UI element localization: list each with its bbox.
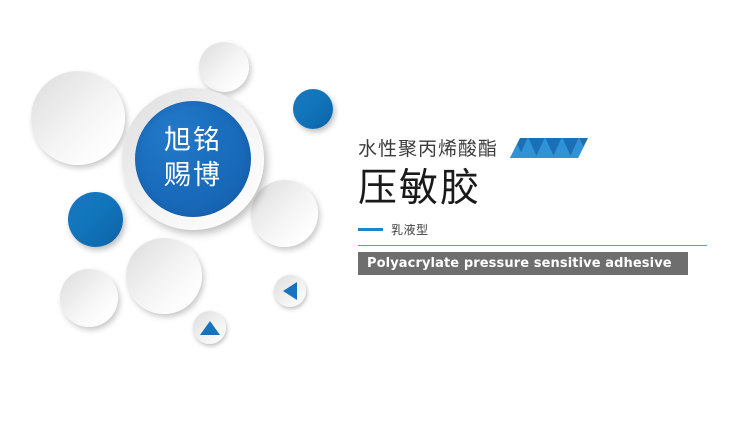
subtitle-row: 水性聚丙烯酸酯 [358, 132, 718, 162]
logo-text-line-1: 旭铭 [164, 124, 222, 159]
gray-circle-large-left [31, 71, 125, 165]
triangle-up-icon [200, 321, 220, 335]
blue-circle-top-right [293, 89, 333, 129]
marker-triangle-up [193, 311, 226, 344]
tag-dash-icon [358, 228, 383, 231]
subtitle-chinese: 水性聚丙烯酸酯 [358, 134, 498, 161]
blue-circle-mid-left [68, 192, 123, 247]
tag-chinese: 乳液型 [391, 221, 429, 238]
slide-canvas: 旭铭 赐博 水性聚丙烯酸酯 [0, 0, 750, 422]
zigzag-parallelogram-icon [510, 137, 588, 159]
gray-circle-bottom-left [60, 269, 118, 327]
gray-circle-bottom-mid [126, 238, 202, 314]
tag-row: 乳液型 [358, 222, 718, 238]
gray-circle-small-top [199, 42, 249, 92]
english-subtitle-bar: Polyacrylate pressure sensitive adhesive [358, 252, 688, 275]
company-logo-disc: 旭铭 赐博 [135, 101, 251, 217]
logo-text-line-2: 赐博 [164, 159, 222, 194]
triangle-left-icon [283, 282, 297, 300]
english-subtitle-text: Polyacrylate pressure sensitive adhesive [358, 256, 672, 271]
title-text-block: 水性聚丙烯酸酯 压敏胶 乳液型 [358, 132, 718, 275]
title-chinese: 压敏胶 [358, 167, 718, 211]
gray-circle-right [251, 180, 318, 247]
marker-triangle-left [274, 275, 306, 307]
company-logo-ring: 旭铭 赐博 [122, 88, 264, 230]
horizontal-rule [358, 245, 707, 246]
